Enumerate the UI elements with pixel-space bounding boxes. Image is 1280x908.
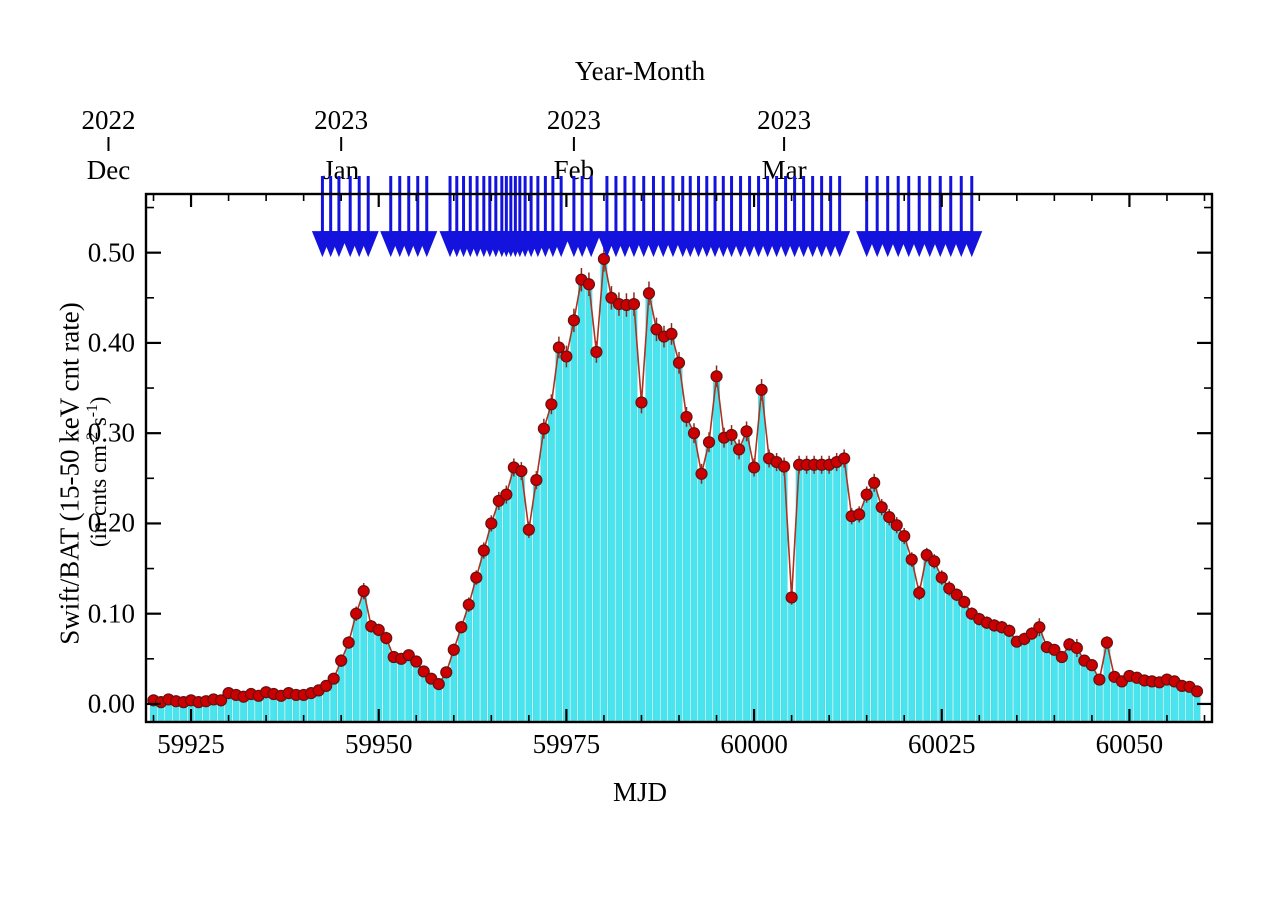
data-point-marker (876, 502, 887, 513)
data-point-marker (704, 437, 715, 448)
data-point-marker (666, 328, 677, 339)
data-point-marker (561, 351, 572, 362)
data-point-marker (546, 399, 557, 410)
fill-bar (939, 578, 945, 722)
fill-bar (398, 659, 404, 722)
fill-bar (646, 293, 652, 722)
data-point-marker (351, 608, 362, 619)
data-point-marker (1056, 652, 1067, 663)
observation-epoch-arrows (312, 176, 982, 257)
data-point-marker (786, 592, 797, 603)
fill-bar (976, 619, 982, 722)
fill-bar (1059, 657, 1065, 722)
fill-bar (773, 462, 779, 722)
data-point-marker (328, 673, 339, 684)
fill-bar (871, 483, 877, 722)
fill-bar (969, 614, 975, 722)
fill-bar (1141, 680, 1147, 722)
data-point-marker (929, 556, 940, 567)
axis-frame (108, 137, 1212, 722)
fill-bar (593, 352, 599, 722)
fill-bar (601, 259, 607, 722)
data-point-marker (1004, 625, 1015, 636)
fill-bar (751, 467, 757, 722)
fill-bar (383, 638, 389, 722)
data-point-marker (681, 411, 692, 422)
fill-bar (984, 623, 990, 722)
data-point-marker (696, 468, 707, 479)
fill-bar (571, 320, 577, 722)
fill-bar (743, 431, 749, 722)
data-point-marker (1191, 686, 1202, 697)
data-point-marker (478, 545, 489, 556)
data-point-marker (598, 253, 609, 264)
fill-bar (894, 525, 900, 722)
data-point-marker (523, 524, 534, 535)
fill-bar (818, 465, 824, 722)
fill-bar (1029, 634, 1035, 722)
data-point-marker (486, 518, 497, 529)
data-point-marker (411, 656, 422, 667)
fill-bar (668, 334, 674, 722)
fill-bar (758, 390, 764, 722)
data-point-marker (433, 679, 444, 690)
fill-bar (1134, 678, 1140, 722)
data-point-marker (756, 384, 767, 395)
data-point-marker (959, 596, 970, 607)
fill-bar (833, 462, 839, 722)
fill-bar (1081, 661, 1087, 722)
fill-bar (1021, 639, 1027, 722)
fill-bar (706, 442, 712, 722)
data-point-marker (839, 453, 850, 464)
data-point-marker (869, 477, 880, 488)
fill-bar (803, 465, 809, 722)
fill-bar (346, 643, 352, 722)
plot-canvas (0, 0, 1280, 908)
fill-bar (864, 495, 870, 722)
data-point-marker (568, 315, 579, 326)
data-point-marker (1071, 642, 1082, 653)
data-point-marker (583, 279, 594, 290)
fill-bar (466, 605, 472, 722)
fill-bar (886, 517, 892, 722)
data-point-marker (358, 586, 369, 597)
data-point-marker (343, 637, 354, 648)
data-point-marker (448, 644, 459, 655)
fill-bar (526, 530, 532, 722)
data-point-marker (591, 346, 602, 357)
fill-bar (653, 329, 659, 722)
fill-bar (473, 578, 479, 722)
fill-bar (788, 597, 794, 722)
fill-bar (631, 304, 637, 722)
fill-bar (578, 280, 584, 722)
fill-bar (1036, 627, 1042, 722)
data-point-marker (914, 587, 925, 598)
fill-bar (954, 595, 960, 722)
data-point-marker (636, 397, 647, 408)
fill-bar (511, 467, 517, 722)
fill-bar (841, 458, 847, 722)
fill-bar (879, 507, 885, 722)
data-point-marker (516, 466, 527, 477)
data-point-marker (854, 509, 865, 520)
data-point-marker (749, 462, 760, 473)
fill-bar (961, 602, 967, 722)
fill-bar (376, 630, 382, 722)
fill-bar (811, 465, 817, 722)
fill-bar (728, 435, 734, 722)
data-point-marker (553, 342, 564, 353)
data-point-marker (336, 655, 347, 666)
fill-bar (946, 588, 952, 722)
data-point-marker (441, 667, 452, 678)
data-point-marker (471, 572, 482, 583)
fill-bar (856, 514, 862, 722)
data-point-marker (711, 371, 722, 382)
fill-bar (1096, 680, 1102, 722)
fill-bar (458, 627, 464, 722)
data-point-marker (1034, 622, 1045, 633)
fill-bar (826, 465, 832, 722)
fill-bar (736, 449, 742, 722)
fill-bar (924, 555, 930, 722)
data-point-marker (381, 633, 392, 644)
fill-bar (443, 672, 449, 722)
fill-bar (608, 298, 614, 722)
data-point-marker (1086, 660, 1097, 671)
data-point-marker (734, 444, 745, 455)
fill-bar (849, 516, 855, 722)
fill-bar (616, 304, 622, 722)
fill-bar (353, 614, 359, 722)
data-point-marker (538, 423, 549, 434)
fill-bar (916, 593, 922, 722)
figure-root: Year-Month 2022Dec2023Jan2023Feb2023Mar … (0, 0, 1280, 908)
data-point-marker (936, 572, 947, 583)
fill-bar (638, 402, 644, 722)
data-point-marker (628, 299, 639, 310)
fill-bar (496, 501, 502, 722)
data-point-marker (463, 599, 474, 610)
data-point-marker (689, 428, 700, 439)
data-point-marker (643, 288, 654, 299)
fill-bar (1014, 642, 1020, 722)
data-point-marker (674, 357, 685, 368)
fill-bar (698, 474, 704, 722)
data-point-marker (741, 426, 752, 437)
data-point-marker (456, 622, 467, 633)
fill-bar (563, 356, 569, 722)
data-point-marker (501, 489, 512, 500)
fill-bar (503, 495, 509, 722)
fill-bar (541, 429, 547, 722)
fill-bar (623, 305, 629, 722)
fill-bar (766, 458, 772, 722)
fill-bar (999, 627, 1005, 722)
fill-bar (713, 376, 719, 722)
data-point-marker (906, 554, 917, 565)
data-point-marker (1101, 637, 1112, 648)
fill-bar (533, 480, 539, 722)
count-rate-fill-bars (150, 259, 1200, 722)
fill-bar (518, 471, 524, 722)
fill-bar (338, 661, 344, 722)
data-point-marker (531, 475, 542, 486)
data-point-marker (899, 531, 910, 542)
fill-bar (721, 438, 727, 722)
data-point-marker (1094, 674, 1105, 685)
fill-bar (683, 417, 689, 722)
fill-bar (391, 657, 397, 722)
data-point-marker (861, 489, 872, 500)
fill-bar (1051, 650, 1057, 722)
fill-bar (451, 650, 457, 722)
fill-bar (661, 337, 667, 722)
fill-bar (368, 626, 374, 722)
data-point-marker (891, 520, 902, 531)
fill-bar (991, 625, 997, 722)
data-point-marker (779, 461, 790, 472)
fill-bar (1044, 647, 1050, 722)
data-point-marker (726, 429, 737, 440)
fill-bar (548, 404, 554, 722)
fill-bar (909, 560, 915, 722)
fill-bar (406, 655, 412, 722)
fill-bar (1089, 665, 1095, 722)
fill-bar (901, 536, 907, 722)
fill-bar (931, 561, 937, 722)
